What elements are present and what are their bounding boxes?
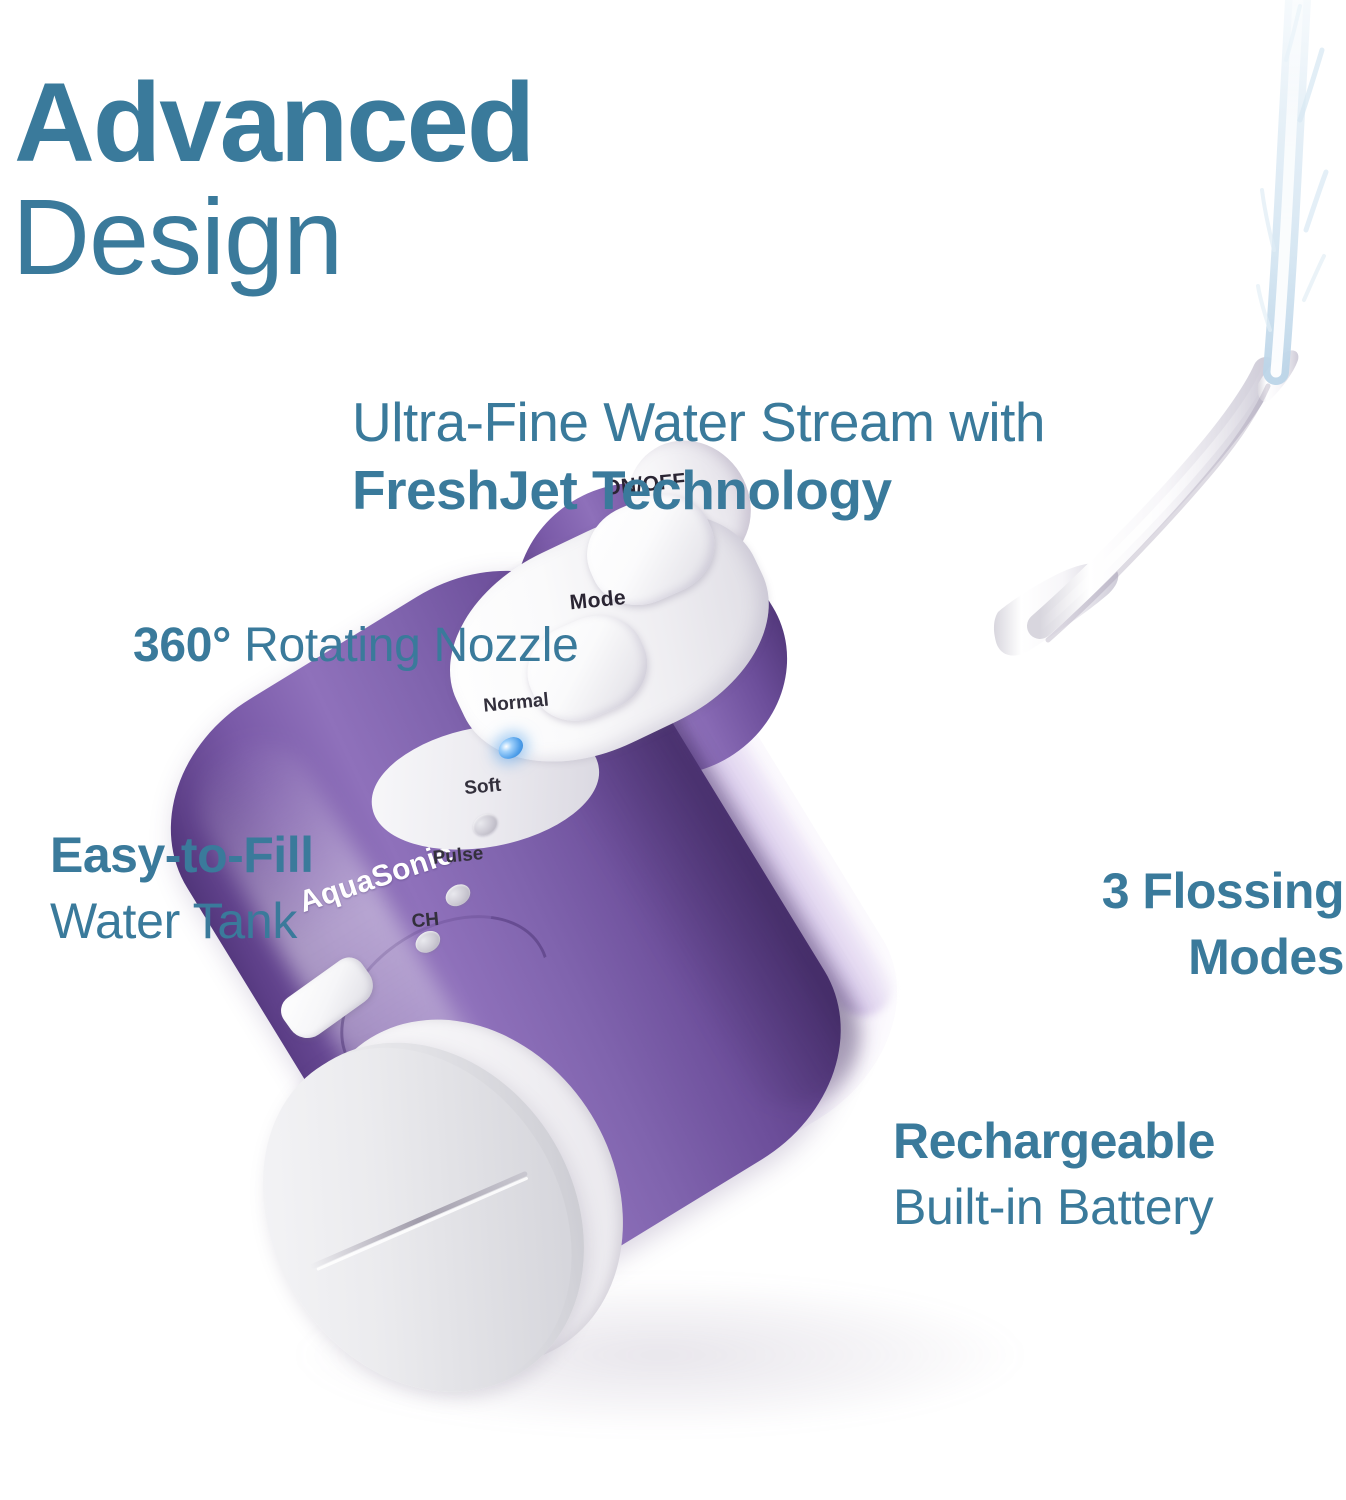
page-title-line2: Design bbox=[12, 182, 342, 292]
subheading-line2: FreshJet Technology bbox=[352, 462, 892, 518]
infographic-canvas: AquaSonic ON/OFF Mode Normal Soft Pulse … bbox=[0, 0, 1346, 1500]
feature-label-modes-line1: 3 Flossing bbox=[1102, 866, 1344, 917]
feature-label-battery-line2: Built-in Battery bbox=[893, 1182, 1213, 1233]
feature-label-tank-line2: Water Tank bbox=[50, 896, 297, 947]
feature-nozzle-emphasis: 360° bbox=[133, 619, 231, 672]
feature-label-battery-line1: Rechargeable bbox=[893, 1116, 1215, 1167]
feature-label-tank-line1: Easy-to-Fill bbox=[50, 830, 313, 881]
page-title-line1: Advanced bbox=[14, 66, 533, 180]
feature-label-nozzle: 360° Rotating Nozzle bbox=[133, 622, 578, 671]
indicator-label-soft: Soft bbox=[463, 775, 502, 800]
subheading-line1: Ultra-Fine Water Stream with bbox=[352, 394, 1045, 450]
feature-nozzle-text: Rotating Nozzle bbox=[231, 619, 578, 672]
feature-label-modes-line2: Modes bbox=[1188, 932, 1344, 983]
